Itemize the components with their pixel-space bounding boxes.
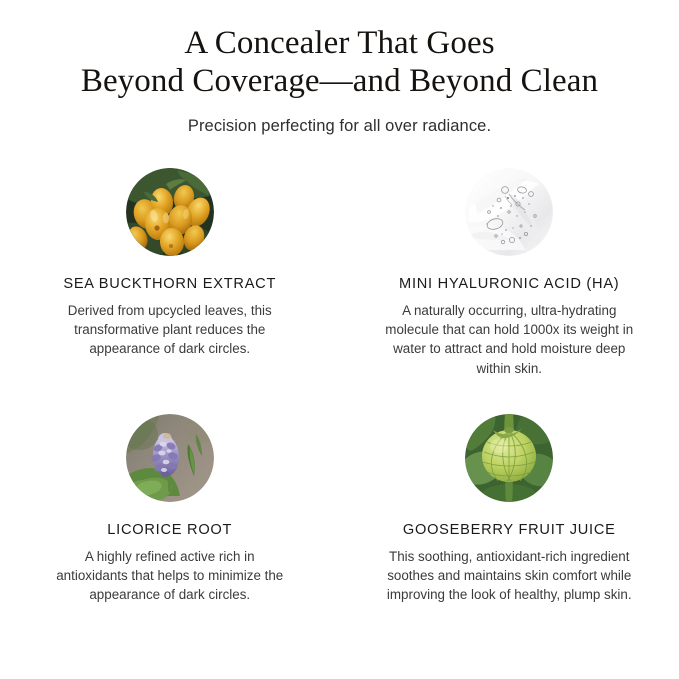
ingredient-description: A naturally occurring, ultra-hydrating m… (384, 301, 636, 378)
ingredient-description: Derived from upcycled leaves, this trans… (52, 301, 288, 359)
licorice-root-flower-photo (126, 414, 214, 502)
ingredient-description: A highly refined active rich in antioxid… (52, 547, 288, 605)
page-title: A Concealer That Goes Beyond Coverage—an… (0, 24, 679, 100)
sea-buckthorn-berries-photo (126, 168, 214, 256)
headline-line-2: Beyond Coverage—and Beyond Clean (30, 62, 649, 100)
ingredient-card-hyaluronic-acid: MINI HYALURONIC ACID (HA) A naturally oc… (340, 168, 679, 378)
ingredient-title: LICORICE ROOT (52, 522, 288, 538)
ingredient-title: MINI HYALURONIC ACID (HA) (384, 276, 636, 292)
ingredient-title: SEA BUCKTHORN EXTRACT (52, 276, 288, 292)
gooseberry-fruit-photo (465, 414, 553, 502)
hyaluronic-acid-gel-texture-photo (465, 168, 553, 256)
headline-line-1: A Concealer That Goes (184, 25, 494, 61)
ingredient-card-sea-buckthorn: SEA BUCKTHORN EXTRACT Derived from upcyc… (0, 168, 340, 378)
ingredient-title: GOOSEBERRY FRUIT JUICE (384, 522, 636, 538)
page-subtitle: Precision perfecting for all over radian… (0, 117, 679, 136)
ingredient-card-gooseberry: GOOSEBERRY FRUIT JUICE This soothing, an… (340, 414, 679, 605)
header: A Concealer That Goes Beyond Coverage—an… (0, 0, 679, 136)
ingredient-card-licorice-root: LICORICE ROOT A highly refined active ri… (0, 414, 340, 605)
ingredient-infographic-page: A Concealer That Goes Beyond Coverage—an… (0, 0, 679, 679)
ingredient-grid: SEA BUCKTHORN EXTRACT Derived from upcyc… (0, 168, 679, 604)
ingredient-description: This soothing, antioxidant-rich ingredie… (384, 547, 636, 605)
